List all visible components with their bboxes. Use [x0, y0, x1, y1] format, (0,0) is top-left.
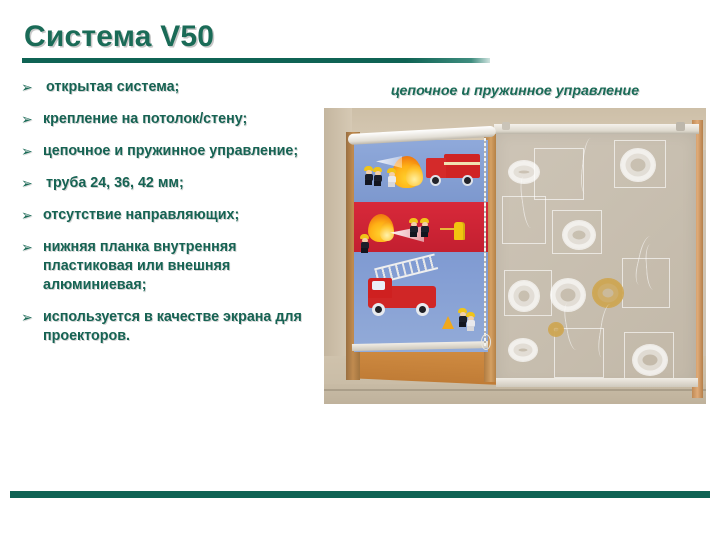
flame-graphic — [380, 222, 394, 241]
firefighter-figure — [387, 168, 396, 187]
flame-graphic — [406, 164, 423, 186]
patterned-roller-blind — [354, 140, 488, 352]
list-item: ➢ цепочное и пружинное управление; — [18, 142, 318, 161]
control-chain-loop — [481, 334, 491, 350]
list-item: ➢ отсутствие направляющих; — [18, 206, 318, 225]
page-title: Система V50 — [24, 20, 214, 54]
spiral-motif — [620, 148, 656, 182]
list-item: ➢ нижняя планка внутренняя пластиковая и… — [18, 238, 318, 295]
firefighter-figure — [373, 167, 382, 186]
arrow-bullet-icon: ➢ — [18, 308, 43, 327]
presentation-slide: Система V50 ➢ открытая система; ➢ крепле… — [0, 0, 720, 540]
arrow-bullet-icon: ➢ — [18, 206, 43, 225]
firefighter-figure — [420, 218, 429, 237]
spiral-motif — [508, 280, 540, 312]
list-item-label: нижняя планка внутренняя пластиковая или… — [43, 238, 318, 295]
list-item-label: открытая система; — [43, 78, 318, 97]
title-underline-rule — [22, 58, 490, 63]
mounting-bracket-icon — [676, 122, 685, 131]
list-item-label: отсутствие направляющих; — [43, 206, 318, 225]
photo-floor — [324, 384, 706, 404]
stem-motif — [596, 303, 619, 359]
spiral-motif — [508, 338, 538, 362]
list-item: ➢ крепление на потолок/стену; — [18, 110, 318, 129]
traffic-cone-graphic — [442, 316, 454, 329]
spiral-motif — [632, 344, 668, 376]
arrow-bullet-icon: ➢ — [18, 174, 43, 193]
feature-bullet-list: ➢ открытая система; ➢ крепление на потол… — [18, 78, 318, 359]
list-item-label: цепочное и пружинное управление; — [43, 142, 318, 161]
list-item: ➢ труба 24, 36, 42 мм; — [18, 174, 318, 193]
list-item-label: используется в качестве экрана для проек… — [43, 308, 318, 346]
arrow-bullet-icon: ➢ — [18, 110, 43, 129]
firefighter-figure — [360, 234, 369, 253]
plain-roller-blind — [496, 132, 696, 386]
firefighter-figure — [364, 166, 373, 185]
firefighter-figure — [409, 218, 418, 237]
firefighter-figure — [466, 312, 475, 331]
arrow-bullet-icon: ➢ — [18, 238, 43, 257]
arrow-bullet-icon: ➢ — [18, 78, 43, 97]
photo-floor-line — [324, 389, 706, 391]
roller-headrail-right — [494, 124, 699, 134]
spiral-motif-gold — [548, 322, 564, 337]
fire-hydrant-graphic — [454, 222, 465, 240]
roller-blinds-photo — [324, 108, 706, 404]
square-motif — [534, 148, 584, 200]
fire-truck-graphic — [426, 152, 480, 186]
blind-bottom-rail-right — [496, 378, 698, 387]
arrow-bullet-icon: ➢ — [18, 142, 43, 161]
fire-truck-ladder-graphic — [368, 268, 444, 316]
control-chain — [484, 138, 486, 346]
list-item: ➢ открытая система; — [18, 78, 318, 97]
list-item-label: труба 24, 36, 42 мм; — [43, 174, 318, 193]
photo-caption: цепочное и пружинное управление — [325, 83, 705, 99]
list-item: ➢ используется в качестве экрана для про… — [18, 308, 318, 346]
stem-motif — [579, 137, 600, 194]
list-item-label: крепление на потолок/стену; — [43, 110, 318, 129]
mounting-bracket-icon — [502, 122, 510, 130]
footer-rule — [10, 491, 710, 498]
spiral-motif — [562, 220, 596, 250]
